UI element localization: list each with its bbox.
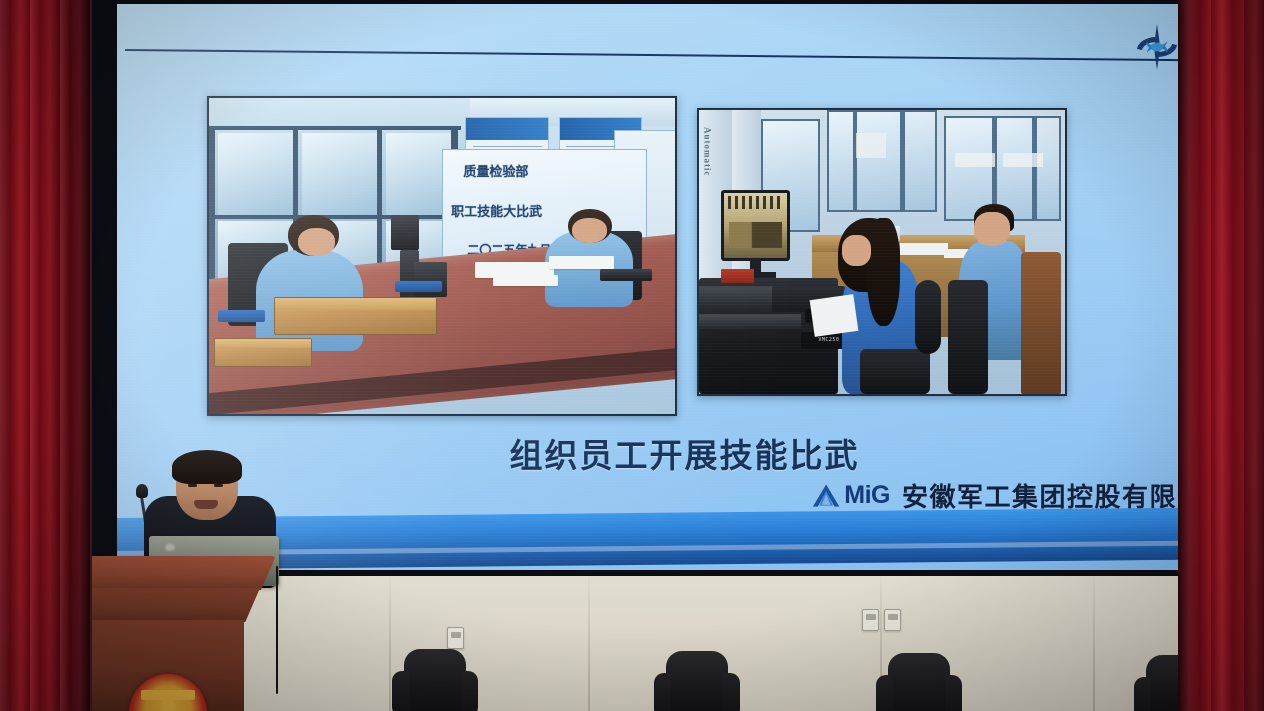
measurement-monitor [721, 190, 791, 261]
audience-chair [666, 651, 728, 711]
amig-triangle-logo: MiG [812, 481, 890, 510]
whiteboard-line-1: 质量检验部 [463, 161, 528, 180]
microphone-icon [136, 484, 148, 498]
instrument-case [214, 338, 312, 366]
stage-curtain-left [0, 0, 92, 711]
power-cable [276, 566, 278, 694]
wall-outlet [884, 609, 901, 631]
audience-chair [888, 653, 950, 711]
podium [60, 556, 276, 711]
company-compass-emblem [1129, 22, 1185, 72]
wall-outlet [862, 609, 879, 631]
audience-chair [404, 649, 466, 711]
wall-seam [588, 560, 590, 711]
whiteboard-line-2: 职工技能大比武 [451, 201, 542, 220]
wall-seam [389, 560, 391, 711]
slide-divider [125, 49, 1245, 62]
amig-logo-text: MiG [844, 481, 890, 510]
instrument-case [274, 297, 437, 335]
stage-curtain-right [1178, 0, 1264, 711]
slide-photo-right: Automatic [697, 108, 1067, 396]
screenshot-scene: 质量检验部 职工技能大比武 二〇二五年九月 [0, 0, 1264, 711]
slide-photo-left: 质量检验部 职工技能大比武 二〇二五年九月 [207, 96, 677, 416]
machine-brand-text: Automatic [703, 127, 713, 177]
wall-seam [1093, 560, 1095, 711]
wall-outlet [447, 627, 464, 649]
